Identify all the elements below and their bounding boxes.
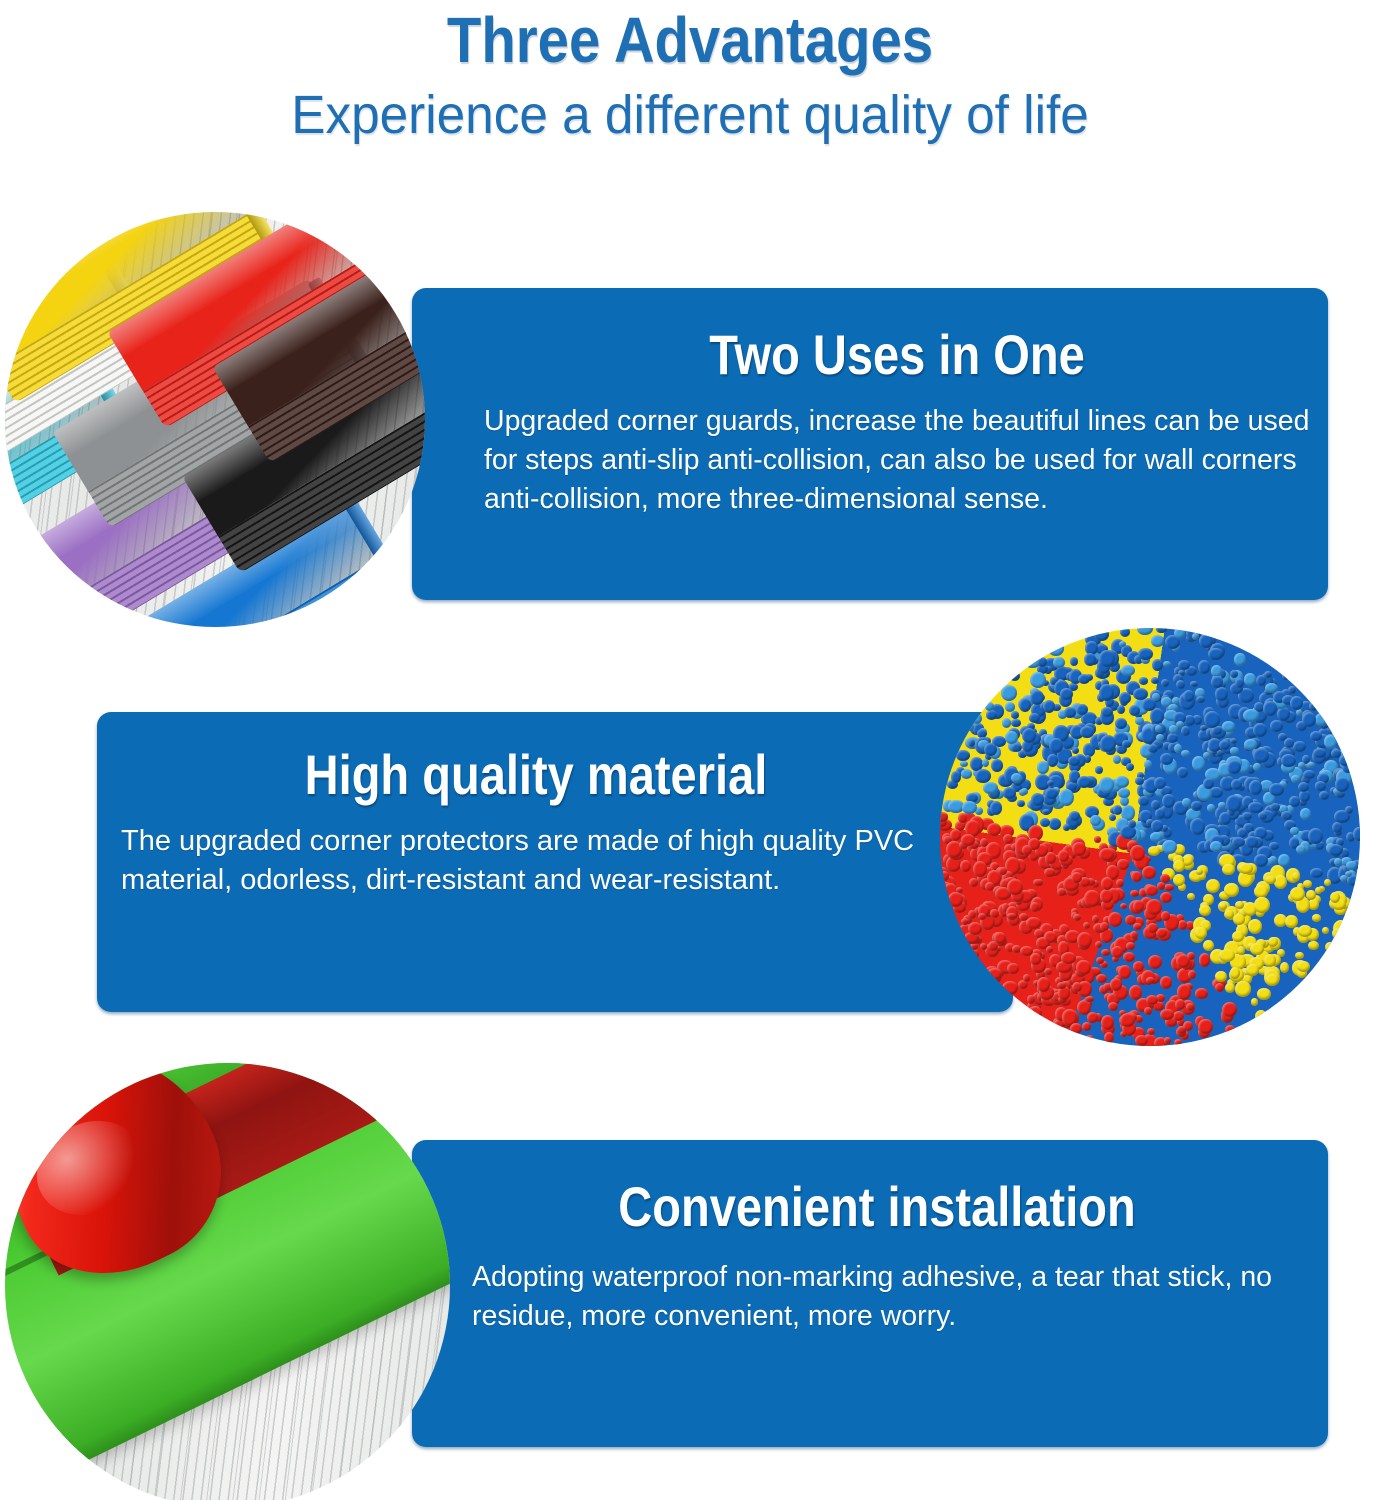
pvc-pellet: [1282, 672, 1289, 680]
pvc-pellet: [1108, 1002, 1118, 1011]
pvc-pellet: [978, 913, 986, 920]
pvc-pellet: [1173, 1011, 1185, 1021]
pvc-pellet: [1268, 937, 1278, 947]
pvc-pellet: [1303, 880, 1312, 887]
pvc-pellet: [980, 943, 987, 949]
pvc-pellet: [1121, 665, 1135, 676]
pvc-pellet: [1100, 889, 1113, 903]
product-photo-pvc-pellets: [940, 628, 1360, 1046]
pellet-field: [940, 628, 1360, 1046]
pvc-pellet: [1280, 962, 1289, 972]
pvc-pellet: [1022, 845, 1032, 854]
pvc-pellet: [1226, 795, 1241, 811]
pvc-pellet: [1253, 763, 1261, 771]
pvc-pellet: [1144, 760, 1152, 769]
pvc-pellet: [1099, 777, 1114, 792]
pvc-pellet: [991, 759, 1003, 773]
pvc-pellet: [1332, 822, 1342, 833]
pvc-pellet: [1126, 763, 1134, 771]
pvc-pellet: [1130, 845, 1145, 861]
pvc-pellet: [1113, 755, 1121, 764]
pvc-pellet: [1278, 854, 1290, 867]
pvc-pellet: [961, 918, 969, 925]
pvc-pellet: [1007, 879, 1022, 896]
pvc-pellet: [1207, 804, 1215, 811]
pvc-pellet: [1199, 953, 1211, 967]
pvc-pellet: [960, 860, 971, 872]
pvc-pellet: [1045, 788, 1058, 799]
pvc-pellet: [1249, 780, 1263, 795]
pvc-pellet: [1297, 961, 1310, 972]
pvc-pellet: [1181, 750, 1190, 757]
pvc-pellet: [1073, 914, 1080, 921]
pvc-pellet: [961, 834, 975, 846]
pvc-pellet: [1242, 812, 1252, 820]
advantage-card-1-heading: Two Uses in One: [550, 324, 1244, 386]
pvc-pellet: [1138, 796, 1148, 806]
pvc-pellet: [1011, 719, 1021, 728]
pvc-pellet: [1295, 952, 1304, 960]
pvc-pellet: [1219, 812, 1230, 825]
pvc-pellet: [1157, 882, 1165, 889]
pvc-pellet: [982, 759, 989, 767]
pvc-pellet: [1007, 963, 1018, 974]
pvc-pellet: [1072, 982, 1081, 992]
pvc-pellet: [1322, 927, 1329, 934]
pvc-pellet: [1125, 915, 1135, 925]
pvc-pellet: [1064, 707, 1076, 718]
pvc-pellet: [1019, 698, 1032, 712]
pvc-pellet: [1009, 671, 1020, 681]
pvc-pellet: [1309, 702, 1318, 710]
pvc-pellet: [1011, 711, 1019, 718]
pvc-pellet: [1043, 700, 1055, 713]
advantage-card-3: Convenient installation Adopting waterpr…: [412, 1140, 1328, 1447]
pvc-pellet: [1219, 740, 1230, 750]
pvc-pellet: [1021, 788, 1028, 796]
pvc-pellet: [1099, 848, 1114, 861]
pvc-pellet: [1230, 967, 1240, 978]
pvc-pellet: [1001, 685, 1017, 701]
pvc-pellet: [1211, 676, 1222, 688]
pvc-pellet: [1077, 776, 1091, 788]
pvc-pellet: [1094, 836, 1102, 843]
pvc-pellets-scene: [940, 628, 1360, 1046]
pvc-pellet: [1182, 798, 1192, 807]
pvc-pellet: [1325, 942, 1335, 952]
pvc-pellet: [983, 782, 998, 795]
pvc-pellet: [1310, 731, 1322, 741]
pvc-pellet: [1069, 811, 1080, 821]
pvc-pellet: [1254, 897, 1269, 913]
pvc-pellet: [1177, 984, 1191, 1000]
pvc-pellet: [986, 710, 997, 720]
pvc-pellet: [1198, 660, 1211, 674]
pvc-pellet: [1285, 915, 1298, 929]
pvc-pellet: [1048, 641, 1064, 656]
pvc-pellet: [950, 829, 961, 841]
pvc-pellet: [972, 713, 982, 724]
pvc-pellet: [1167, 733, 1178, 743]
pvc-pellet: [1115, 718, 1127, 729]
pvc-pellet: [1225, 1025, 1236, 1035]
pvc-pellet: [1177, 767, 1188, 778]
advantage-card-3-body: Adopting waterproof non-marking adhesive…: [472, 1258, 1282, 1336]
pvc-pellet: [1130, 890, 1139, 897]
pvc-pellet: [1190, 681, 1198, 688]
pvc-pellet: [961, 769, 972, 779]
advantage-card-3-content: Convenient installation Adopting waterpr…: [472, 1176, 1282, 1336]
pvc-pellet: [1040, 818, 1050, 828]
pvc-pellet: [1234, 653, 1246, 666]
pvc-pellet: [1078, 674, 1090, 684]
pvc-pellet: [1206, 879, 1220, 893]
pvc-pellet: [1290, 887, 1304, 901]
pvc-pellet: [1160, 892, 1172, 903]
pvc-pellet: [968, 910, 976, 919]
pvc-pellet: [1313, 748, 1325, 758]
pvc-pellet: [1328, 844, 1343, 856]
pvc-pellet: [1346, 861, 1356, 871]
pvc-pellet: [1310, 868, 1323, 879]
pvc-pellet: [1224, 883, 1239, 898]
pvc-pellet: [1248, 919, 1263, 934]
pvc-pellet: [1144, 1007, 1152, 1014]
pvc-pellet: [1244, 739, 1257, 750]
pvc-pellet: [973, 861, 987, 877]
pvc-pellet: [1251, 998, 1258, 1005]
pvc-pellet: [1230, 747, 1239, 754]
page-subtitle: Experience a different quality of life: [35, 84, 1346, 146]
pvc-pellet: [1099, 650, 1114, 666]
pvc-pellet: [1133, 900, 1144, 911]
pvc-pellet: [1100, 735, 1116, 752]
pvc-pellet: [1087, 1012, 1098, 1023]
pvc-pellet: [1253, 723, 1267, 737]
pvc-pellet: [1033, 879, 1041, 886]
pvc-pellet: [1108, 912, 1122, 926]
pvc-pellet: [1353, 827, 1360, 841]
pvc-pellet: [1133, 961, 1144, 972]
pvc-pellet: [1339, 755, 1351, 766]
pvc-pellet: [1198, 1019, 1212, 1035]
pvc-pellet: [966, 723, 974, 731]
product-photo-corner-guards: [5, 212, 425, 627]
pvc-pellet: [1061, 952, 1076, 964]
pvc-pellet: [1042, 809, 1050, 815]
pvc-pellet: [1192, 756, 1206, 771]
pvc-pellet: [1058, 850, 1069, 862]
pvc-pellet: [1253, 748, 1269, 763]
pvc-pellet: [1072, 842, 1085, 856]
pvc-pellet: [1095, 941, 1102, 948]
pvc-pellet: [1248, 802, 1262, 814]
pvc-pellet: [1133, 923, 1141, 930]
pvc-pellet: [1151, 820, 1163, 831]
pvc-pellet: [1324, 879, 1331, 886]
pvc-pellet: [1044, 931, 1057, 943]
pvc-pellet: [1146, 899, 1161, 915]
pvc-pellet: [1195, 988, 1208, 998]
pvc-pellet: [1005, 702, 1016, 712]
pvc-pellet: [1053, 657, 1065, 668]
pvc-pellet: [1147, 1028, 1155, 1035]
pvc-pellet: [990, 801, 1003, 815]
pvc-pellet: [1017, 800, 1024, 807]
pvc-pellet: [1118, 788, 1130, 798]
pvc-pellet: [1164, 884, 1174, 892]
pvc-pellet: [1070, 1023, 1082, 1034]
pvc-pellet: [1072, 747, 1079, 754]
pvc-pellet: [969, 878, 978, 888]
pvc-pellet: [1188, 970, 1196, 979]
pvc-pellet: [1335, 777, 1349, 791]
pvc-pellet: [1030, 902, 1039, 912]
pvc-pellet: [1265, 876, 1276, 885]
pvc-pellet: [1115, 776, 1129, 788]
pvc-pellet: [1145, 885, 1158, 896]
pvc-pellet: [969, 949, 979, 959]
pvc-pellet: [1044, 968, 1052, 975]
pvc-pellet: [1232, 837, 1245, 848]
pvc-pellet: [1292, 872, 1300, 881]
pvc-pellet: [1186, 1003, 1194, 1010]
pvc-pellet: [1222, 1002, 1237, 1018]
pvc-pellet: [1199, 905, 1211, 916]
pvc-pellet: [1148, 744, 1158, 753]
pvc-pellet: [1028, 1006, 1042, 1019]
pvc-pellet: [1227, 760, 1241, 774]
pvc-pellet: [1154, 777, 1166, 789]
pvc-pellet: [1071, 872, 1082, 883]
pvc-pellet: [1284, 738, 1294, 748]
pvc-pellet: [1138, 648, 1152, 660]
pvc-pellet: [1195, 927, 1206, 939]
pvc-pellet: [1165, 635, 1180, 649]
pvc-pellet: [1281, 754, 1296, 768]
pvc-pellet: [1037, 977, 1050, 992]
pvc-pellet: [1255, 1010, 1267, 1023]
pvc-pellet: [1116, 879, 1124, 888]
pvc-pellet: [1312, 914, 1321, 921]
pvc-pellet: [1084, 890, 1100, 907]
pvc-pellet: [1101, 877, 1113, 889]
pvc-pellet: [1174, 1039, 1182, 1046]
pvc-pellet: [1068, 756, 1079, 766]
pvc-pellet: [1070, 657, 1078, 666]
pvc-pellet: [1156, 928, 1167, 938]
pvc-pellet: [1044, 868, 1054, 877]
pvc-pellet: [1118, 965, 1131, 980]
pvc-pellet: [1156, 734, 1164, 742]
pvc-pellet: [1063, 824, 1070, 832]
pvc-pellet: [1235, 901, 1244, 909]
corner-guards-scene: [5, 212, 425, 627]
pvc-pellet: [1137, 628, 1153, 635]
pvc-pellet: [1330, 892, 1340, 903]
pvc-pellet: [1196, 696, 1205, 703]
pvc-pellet: [1139, 677, 1149, 685]
page-title: Three Advantages: [83, 0, 1297, 76]
pvc-pellet: [1094, 628, 1109, 641]
pvc-pellet: [1152, 659, 1163, 671]
pvc-pellet: [1126, 942, 1135, 951]
pvc-pellet: [1135, 777, 1143, 785]
pvc-pellet: [1151, 677, 1159, 684]
pvc-pellet: [1315, 781, 1327, 791]
pvc-pellet: [1101, 949, 1110, 956]
pvc-pellet: [1151, 635, 1164, 646]
pvc-pellet: [1269, 783, 1284, 796]
pvc-pellet: [1332, 928, 1342, 939]
pvc-pellet: [968, 922, 982, 935]
pvc-pellet: [1246, 964, 1259, 975]
pvc-pellet: [1110, 978, 1122, 991]
pvc-pellet: [1300, 808, 1311, 820]
pvc-pellet: [1083, 922, 1090, 929]
pvc-pellet: [1164, 1037, 1171, 1044]
pvc-pellet: [1345, 806, 1354, 814]
pvc-pellet: [1298, 762, 1305, 770]
pvc-pellet: [1117, 705, 1126, 714]
pvc-pellet: [1293, 741, 1306, 752]
pvc-pellet: [1187, 952, 1195, 960]
pvc-pellet: [1156, 628, 1166, 633]
pvc-pellet: [1142, 866, 1156, 880]
pvc-pellet: [1210, 841, 1222, 851]
pvc-pellet: [1230, 738, 1238, 745]
pvc-pellet: [1049, 738, 1063, 754]
pvc-pellet: [1059, 789, 1075, 807]
pvc-pellet: [1269, 842, 1279, 850]
pvc-pellet: [1270, 720, 1283, 732]
advantage-card-3-heading: Convenient installation: [537, 1176, 1217, 1238]
pvc-pellet: [1003, 834, 1013, 844]
pvc-pellet: [1274, 875, 1287, 889]
advantage-card-2-content: High quality material The upgraded corne…: [121, 744, 951, 900]
pvc-pellet: [1254, 854, 1268, 867]
pvc-pellet: [958, 813, 967, 822]
pvc-pellet: [1308, 941, 1319, 950]
pvc-pellet: [1104, 1032, 1114, 1043]
pvc-pellet: [1235, 981, 1251, 996]
pvc-pellet: [1117, 859, 1129, 870]
pvc-pellet: [1031, 793, 1044, 806]
pvc-pellet: [1096, 974, 1106, 983]
pvc-pellet: [1100, 922, 1109, 931]
pvc-pellet: [1191, 801, 1202, 810]
advantage-card-1-body: Upgraded corner guards, increase the bea…: [484, 402, 1310, 519]
pvc-pellet: [1129, 985, 1142, 1000]
advantage-card-1: Two Uses in One Upgraded corner guards, …: [412, 288, 1328, 600]
pvc-pellet: [1095, 766, 1103, 774]
pvc-pellet: [1175, 999, 1185, 1010]
pvc-pellet: [1148, 955, 1162, 969]
pvc-pellet: [1298, 925, 1312, 937]
pvc-pellet: [1146, 995, 1158, 1005]
advantage-card-2-heading: High quality material: [187, 744, 884, 806]
pvc-pellet: [1235, 678, 1245, 688]
pvc-pellet: [1077, 932, 1092, 948]
pvc-pellet: [1225, 983, 1235, 993]
pvc-pellet: [1082, 1022, 1091, 1030]
pvc-pellet: [1101, 707, 1113, 717]
pvc-pellet: [1161, 679, 1169, 687]
pvc-pellet: [1215, 971, 1227, 982]
pvc-pellet: [1113, 805, 1122, 815]
pvc-pellet: [1003, 787, 1016, 799]
pvc-pellet: [1045, 852, 1055, 864]
header: Three Advantages Experience a different …: [0, 0, 1380, 170]
pvc-pellet: [1026, 917, 1042, 930]
pvc-pellet: [1302, 712, 1316, 727]
pvc-pellet: [987, 968, 1002, 980]
pvc-pellet: [1046, 946, 1053, 953]
pvc-pellet: [1084, 653, 1096, 666]
pvc-pellet: [1120, 628, 1130, 637]
pvc-pellet: [1257, 988, 1272, 1000]
adhesive-peel-scene: [5, 1063, 450, 1500]
pvc-pellet: [1176, 680, 1185, 689]
pvc-pellet: [1244, 673, 1256, 685]
pvc-pellet: [1076, 960, 1090, 975]
pvc-pellet: [975, 769, 991, 783]
pvc-pellet: [956, 750, 969, 761]
pvc-pellet: [1239, 863, 1252, 874]
pvc-pellet: [1181, 726, 1190, 736]
pvc-pellet: [1123, 952, 1135, 963]
pvc-pellet: [1334, 858, 1342, 866]
pvc-pellet: [960, 761, 968, 768]
pvc-pellet: [1290, 696, 1303, 710]
pvc-pellet: [1163, 661, 1171, 667]
advantage-card-1-content: Two Uses in One Upgraded corner guards, …: [484, 324, 1310, 519]
pvc-pellet: [1218, 802, 1225, 809]
pvc-pellet: [1291, 775, 1300, 783]
pvc-pellet: [951, 771, 961, 783]
pvc-pellet: [1208, 648, 1223, 661]
pvc-pellet: [1135, 1035, 1148, 1046]
pvc-pellet: [1307, 762, 1315, 768]
pvc-pellet: [1315, 887, 1322, 895]
pvc-pellet: [1120, 1013, 1135, 1027]
pvc-pellet: [1266, 974, 1279, 986]
pvc-pellet: [1289, 796, 1300, 808]
pvc-pellet: [1215, 983, 1224, 993]
pvc-pellet: [1263, 701, 1277, 715]
pvc-pellet: [1178, 920, 1187, 930]
pvc-pellet: [1030, 672, 1045, 688]
pvc-pellet: [1047, 754, 1058, 767]
pvc-pellet: [1111, 946, 1123, 958]
pvc-pellet: [1049, 818, 1061, 830]
pvc-pellet: [1222, 864, 1235, 876]
pvc-pellet: [1085, 1035, 1094, 1043]
pvc-pellet: [1131, 871, 1142, 882]
pvc-pellet: [1027, 995, 1035, 1004]
pvc-pellet: [1176, 721, 1184, 728]
pvc-pellet: [1160, 976, 1173, 989]
pvc-pellet: [1222, 721, 1235, 732]
pvc-pellet: [1151, 800, 1160, 810]
pvc-pellet: [1319, 791, 1330, 800]
product-photo-adhesive-peel: [5, 1063, 450, 1500]
pvc-pellet: [984, 743, 997, 756]
pvc-pellet: [1147, 923, 1157, 933]
pvc-pellet: [1002, 718, 1012, 728]
pvc-pellet: [1148, 846, 1160, 856]
pvc-pellet: [1023, 974, 1030, 982]
